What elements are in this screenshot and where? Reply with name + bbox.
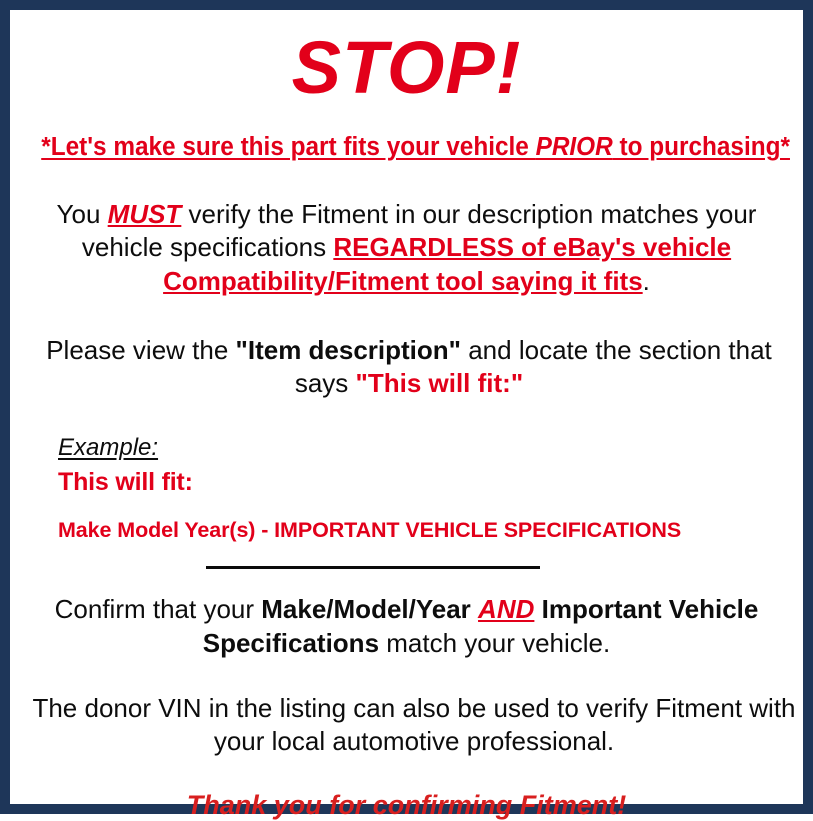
confirm-text-1: Confirm that your: [55, 594, 262, 624]
verify-text-3: .: [643, 266, 650, 296]
example-label: Example:: [58, 434, 158, 462]
divider-row: [24, 543, 789, 569]
verify-emphasis-must: MUST: [108, 199, 182, 229]
example-block: Example: This will fit: Make Model Year(…: [24, 400, 789, 543]
horizontal-divider: [206, 566, 540, 569]
confirm-emphasis-and: AND: [478, 594, 534, 624]
verify-text-1: You: [57, 199, 108, 229]
paragraph-item-description: Please view the "Item description" and l…: [24, 298, 794, 401]
itemdesc-emphasis-this-will-fit: "This will fit:": [356, 368, 524, 398]
subtitle-warning: *Let's make sure this part fits your veh…: [41, 105, 772, 162]
confirm-text-2: match your vehicle.: [379, 628, 610, 658]
paragraph-confirm: Confirm that your Make/Model/Year AND Im…: [27, 569, 787, 660]
example-fit-heading: This will fit:: [58, 462, 789, 497]
fitment-notice-card: STOP! *Let's make sure this part fits yo…: [0, 0, 813, 814]
notice-content: STOP! *Let's make sure this part fits yo…: [10, 10, 803, 804]
example-fitment-line: Make Model Year(s) - IMPORTANT VEHICLE S…: [58, 497, 789, 543]
thank-you-line: Thank you for confirming Fitment!: [24, 758, 789, 821]
itemdesc-text-1: Please view the: [46, 335, 235, 365]
subtitle-emphasis-prior: PRIOR: [536, 133, 613, 161]
page-title: STOP!: [24, 10, 789, 105]
paragraph-donor-vin: The donor VIN in the listing can also be…: [24, 660, 804, 759]
subtitle-prefix: *Let's make sure this part fits your veh…: [41, 133, 535, 161]
paragraph-verify-fitment: You MUST verify the Fitment in our descr…: [27, 162, 787, 298]
confirm-emphasis-make-model-year: Make/Model/Year: [261, 594, 471, 624]
subtitle-suffix: to purchasing*: [613, 133, 790, 161]
itemdesc-emphasis-item-description: "Item description": [236, 335, 461, 365]
